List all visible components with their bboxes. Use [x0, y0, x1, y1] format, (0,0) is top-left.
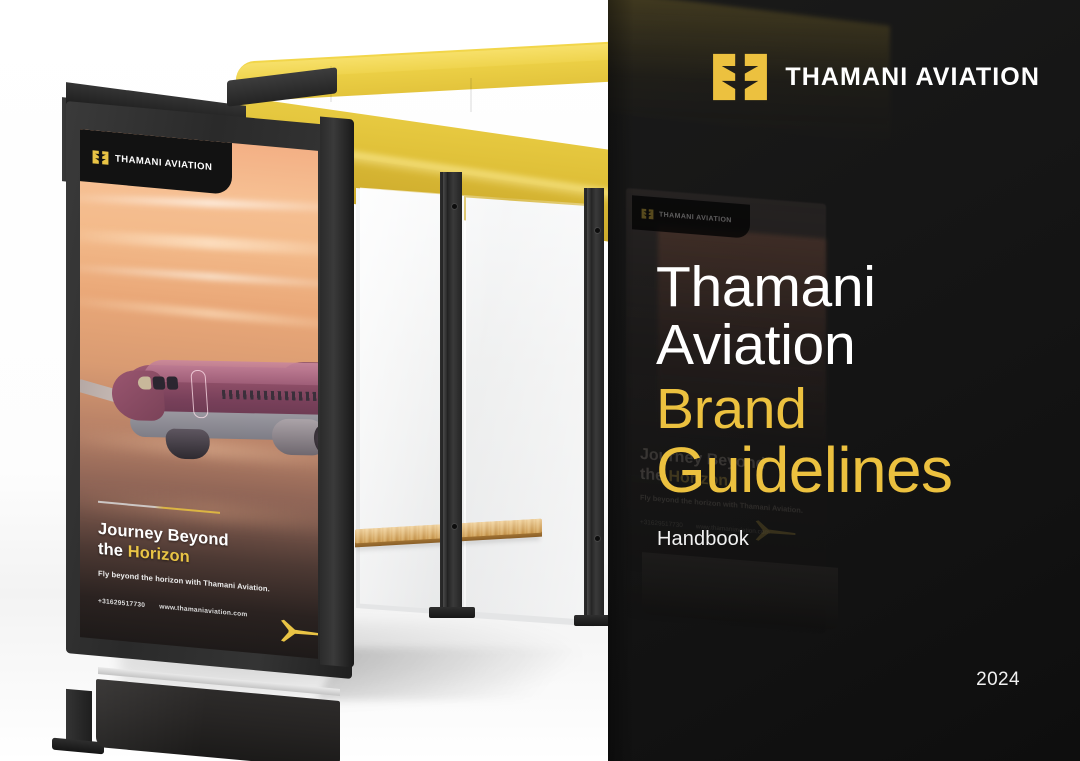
post-base-plate	[574, 615, 612, 626]
post-bolt-icon	[452, 524, 457, 529]
post-bolt-icon	[595, 228, 600, 233]
cover-title-line-4: Guidelines	[656, 438, 1056, 503]
butterfly-wings-logo-icon	[711, 52, 769, 102]
poster-headline-accent: Horizon	[128, 542, 190, 566]
poster-website: www.thamaniaviation.com	[159, 603, 247, 618]
butterfly-wings-logo-icon	[92, 149, 109, 166]
poster-headline-plain: the	[98, 540, 128, 561]
ghost-plane-arrow-left-icon	[754, 518, 798, 546]
ground-shadow-secondary	[316, 648, 612, 700]
butterfly-wings-logo-icon	[641, 207, 654, 219]
cover-title-line-1: Thamani	[656, 258, 1056, 316]
post-bolt-icon	[452, 204, 457, 209]
shelter-support-post	[584, 188, 604, 618]
post-base-plate	[429, 607, 475, 618]
cover-title-block: Thamani Aviation Brand Guidelines	[656, 258, 1056, 504]
brand-wordmark: THAMANI AVIATION	[785, 63, 1040, 92]
billboard-lightbox: THAMANI AVIATION	[52, 78, 358, 678]
cover-subtitle: Handbook	[657, 528, 749, 551]
poster-badge-text: THAMANI AVIATION	[115, 153, 212, 173]
billboard-frame-side	[320, 116, 354, 667]
cover-title-line-2: Aviation	[656, 316, 1056, 374]
brand-guidelines-cover-page: THAMANI AVIATION	[0, 0, 1080, 761]
post-bolt-icon	[595, 536, 600, 541]
brand-logo-lockup: THAMANI AVIATION	[711, 52, 1040, 102]
poster-headline: Journey Beyond the Horizon	[98, 519, 302, 578]
shelter-support-post	[440, 172, 462, 610]
bus-shelter-mockup-photo: THAMANI AVIATION	[0, 0, 612, 761]
poster-contact-row: +31629517730 www.thamaniaviation.com	[98, 598, 302, 624]
billboard-poster: THAMANI AVIATION	[80, 129, 318, 659]
ghost-badge-text: THAMANI AVIATION	[659, 211, 732, 224]
cover-year: 2024	[976, 669, 1020, 691]
cover-title-line-3: Brand	[656, 380, 1056, 438]
canopy-seam	[470, 78, 472, 112]
glass-reflection	[360, 188, 595, 621]
poster-copy-block: Journey Beyond the Horizon Fly beyond th…	[98, 501, 302, 624]
poster-phone: +31629517730	[98, 598, 145, 609]
airplane-illustration	[86, 308, 318, 491]
plane-arrow-left-icon	[280, 617, 318, 647]
